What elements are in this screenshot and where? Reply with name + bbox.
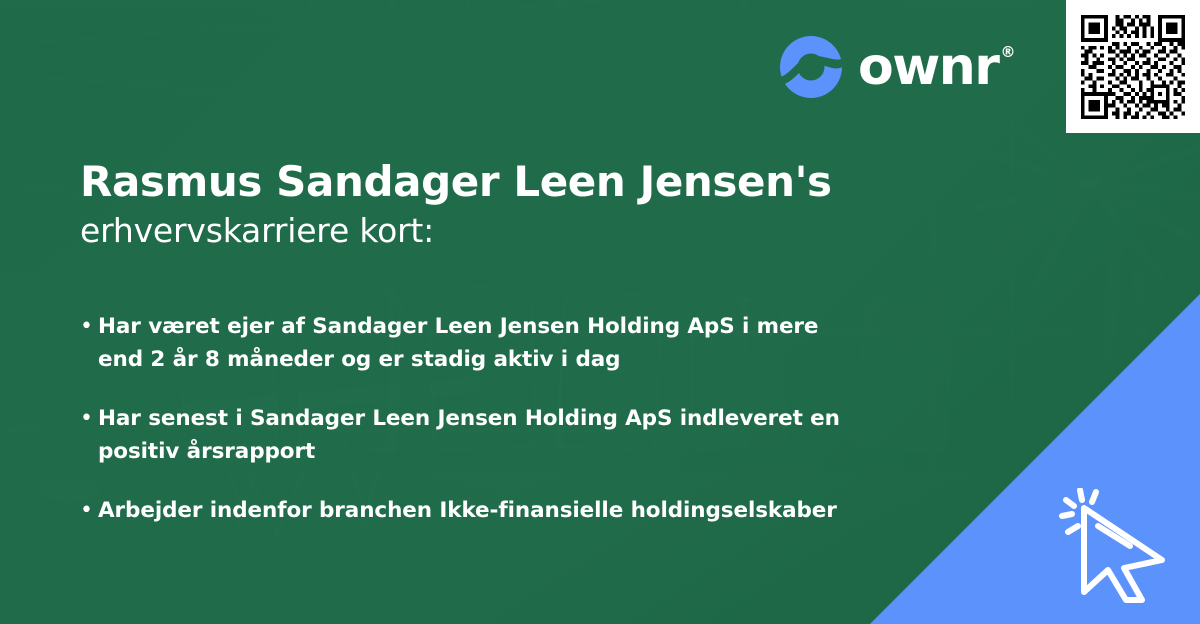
page-title: Rasmus Sandager Leen Jensen's erhvervska…	[80, 157, 940, 253]
ownr-wordmark-text: ownr	[858, 41, 998, 93]
list-item: • Arbejder indenfor branchen Ikke-finans…	[80, 494, 960, 527]
list-item: • Har været ejer af Sandager Leen Jensen…	[80, 310, 960, 376]
title-line-2: erhvervskarriere kort:	[80, 209, 940, 253]
registered-trademark-icon: ®	[1000, 45, 1014, 60]
list-item: • Har senest i Sandager Leen Jensen Hold…	[80, 402, 960, 468]
list-item-text: Har været ejer af Sandager Leen Jensen H…	[98, 310, 858, 376]
ownr-circle-mark-icon	[778, 34, 844, 100]
qr-code[interactable]	[1077, 11, 1189, 123]
ownr-wordmark: ownr ®	[858, 41, 1014, 93]
bullet-marker-icon: •	[80, 402, 98, 435]
list-item-text: Har senest i Sandager Leen Jensen Holdin…	[98, 402, 858, 468]
ownr-logo[interactable]: ownr ®	[778, 34, 1014, 100]
career-summary-card: ownr ® Rasmus Sandager Leen Jensen's erh…	[0, 0, 1200, 624]
list-item-text: Arbejder indenfor branchen Ikke-finansie…	[98, 494, 837, 527]
career-facts-list: • Har været ejer af Sandager Leen Jensen…	[80, 310, 960, 527]
qr-code-panel[interactable]	[1066, 0, 1200, 133]
title-line-1: Rasmus Sandager Leen Jensen's	[80, 157, 940, 207]
bullet-marker-icon: •	[80, 494, 98, 527]
bullet-marker-icon: •	[80, 310, 98, 343]
